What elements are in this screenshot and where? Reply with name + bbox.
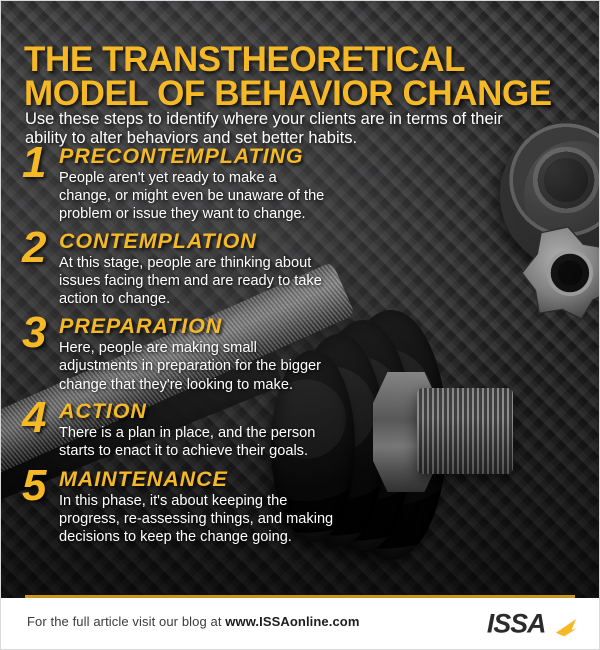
step-item-2: 2 CONTEMPLATION At this stage, people ar… xyxy=(22,230,402,308)
step-title-2: CONTEMPLATION xyxy=(59,231,402,253)
page-title: THE TRANSTHEORETICAL MODEL OF BEHAVIOR C… xyxy=(24,43,580,110)
step-desc-line: At this stage, people are thinking about xyxy=(59,254,402,272)
poster-content: THE TRANSTHEORETICAL MODEL OF BEHAVIOR C… xyxy=(0,0,600,600)
step-title-3: PREPARATION xyxy=(59,316,402,338)
step-desc-line: decisions to keep the change going. xyxy=(59,528,402,546)
issa-logo[interactable]: ISSA xyxy=(486,609,578,639)
step-description-3: Here, people are making small adjustment… xyxy=(59,339,402,393)
step-body-4: ACTION There is a plan in place, and the… xyxy=(59,400,402,460)
step-desc-line: People aren't yet ready to make a xyxy=(59,169,402,187)
step-item-5: 5 MAINTENANCE In this phase, it's about … xyxy=(22,468,402,546)
step-desc-line: Here, people are making small xyxy=(59,339,402,357)
step-desc-line: There is a plan in place, and the person xyxy=(59,424,402,442)
step-desc-line: change that they're looking to make. xyxy=(59,376,402,394)
step-number-5: 5 xyxy=(22,468,59,505)
subtitle-line-1: Use these steps to identify where your c… xyxy=(25,110,577,129)
page-subtitle: Use these steps to identify where your c… xyxy=(25,110,577,149)
step-item-4: 4 ACTION There is a plan in place, and t… xyxy=(22,400,402,460)
step-body-3: PREPARATION Here, people are making smal… xyxy=(59,315,402,393)
footer-url-link[interactable]: www.ISSAonline.com xyxy=(225,614,359,629)
step-title-5: MAINTENANCE xyxy=(59,469,402,491)
infographic-root: THE TRANSTHEORETICAL MODEL OF BEHAVIOR C… xyxy=(0,0,600,650)
step-body-5: MAINTENANCE In this phase, it's about ke… xyxy=(59,468,402,546)
step-title-4: ACTION xyxy=(59,401,402,423)
footer-prefix: For the full article visit our blog at xyxy=(27,614,225,629)
step-body-1: PRECONTEMPLATING People aren't yet ready… xyxy=(59,145,402,223)
step-desc-line: starts to enact it to achieve their goal… xyxy=(59,442,402,460)
step-description-2: At this stage, people are thinking about… xyxy=(59,254,402,308)
poster-background: THE TRANSTHEORETICAL MODEL OF BEHAVIOR C… xyxy=(0,0,600,600)
step-description-5: In this phase, it's about keeping the pr… xyxy=(59,492,402,546)
step-desc-line: issues facing them and are ready to take xyxy=(59,272,402,290)
step-desc-line: adjustments in preparation for the bigge… xyxy=(59,357,402,375)
step-number-2: 2 xyxy=(22,230,59,267)
step-desc-line: In this phase, it's about keeping the xyxy=(59,492,402,510)
step-number-3: 3 xyxy=(22,315,59,352)
footer-bar: For the full article visit our blog at w… xyxy=(0,598,600,650)
step-desc-line: problem or issue they want to change. xyxy=(59,205,402,223)
step-body-2: CONTEMPLATION At this stage, people are … xyxy=(59,230,402,308)
steps-list: 1 PRECONTEMPLATING People aren't yet rea… xyxy=(22,145,402,546)
title-line-2: MODEL OF BEHAVIOR CHANGE xyxy=(24,77,580,111)
step-item-1: 1 PRECONTEMPLATING People aren't yet rea… xyxy=(22,145,402,223)
step-desc-line: change, or might even be unaware of the xyxy=(59,187,402,205)
step-number-4: 4 xyxy=(22,400,59,437)
step-title-1: PRECONTEMPLATING xyxy=(59,146,402,168)
step-desc-line: action to change. xyxy=(59,290,402,308)
title-line-1: THE TRANSTHEORETICAL xyxy=(24,43,580,77)
step-description-1: People aren't yet ready to make a change… xyxy=(59,169,402,223)
step-item-3: 3 PREPARATION Here, people are making sm… xyxy=(22,315,402,393)
step-description-4: There is a plan in place, and the person… xyxy=(59,424,402,460)
svg-text:ISSA: ISSA xyxy=(487,609,546,639)
footer-article-text: For the full article visit our blog at w… xyxy=(27,614,360,629)
step-number-1: 1 xyxy=(22,145,59,182)
step-desc-line: progress, re-assessing things, and makin… xyxy=(59,510,402,528)
